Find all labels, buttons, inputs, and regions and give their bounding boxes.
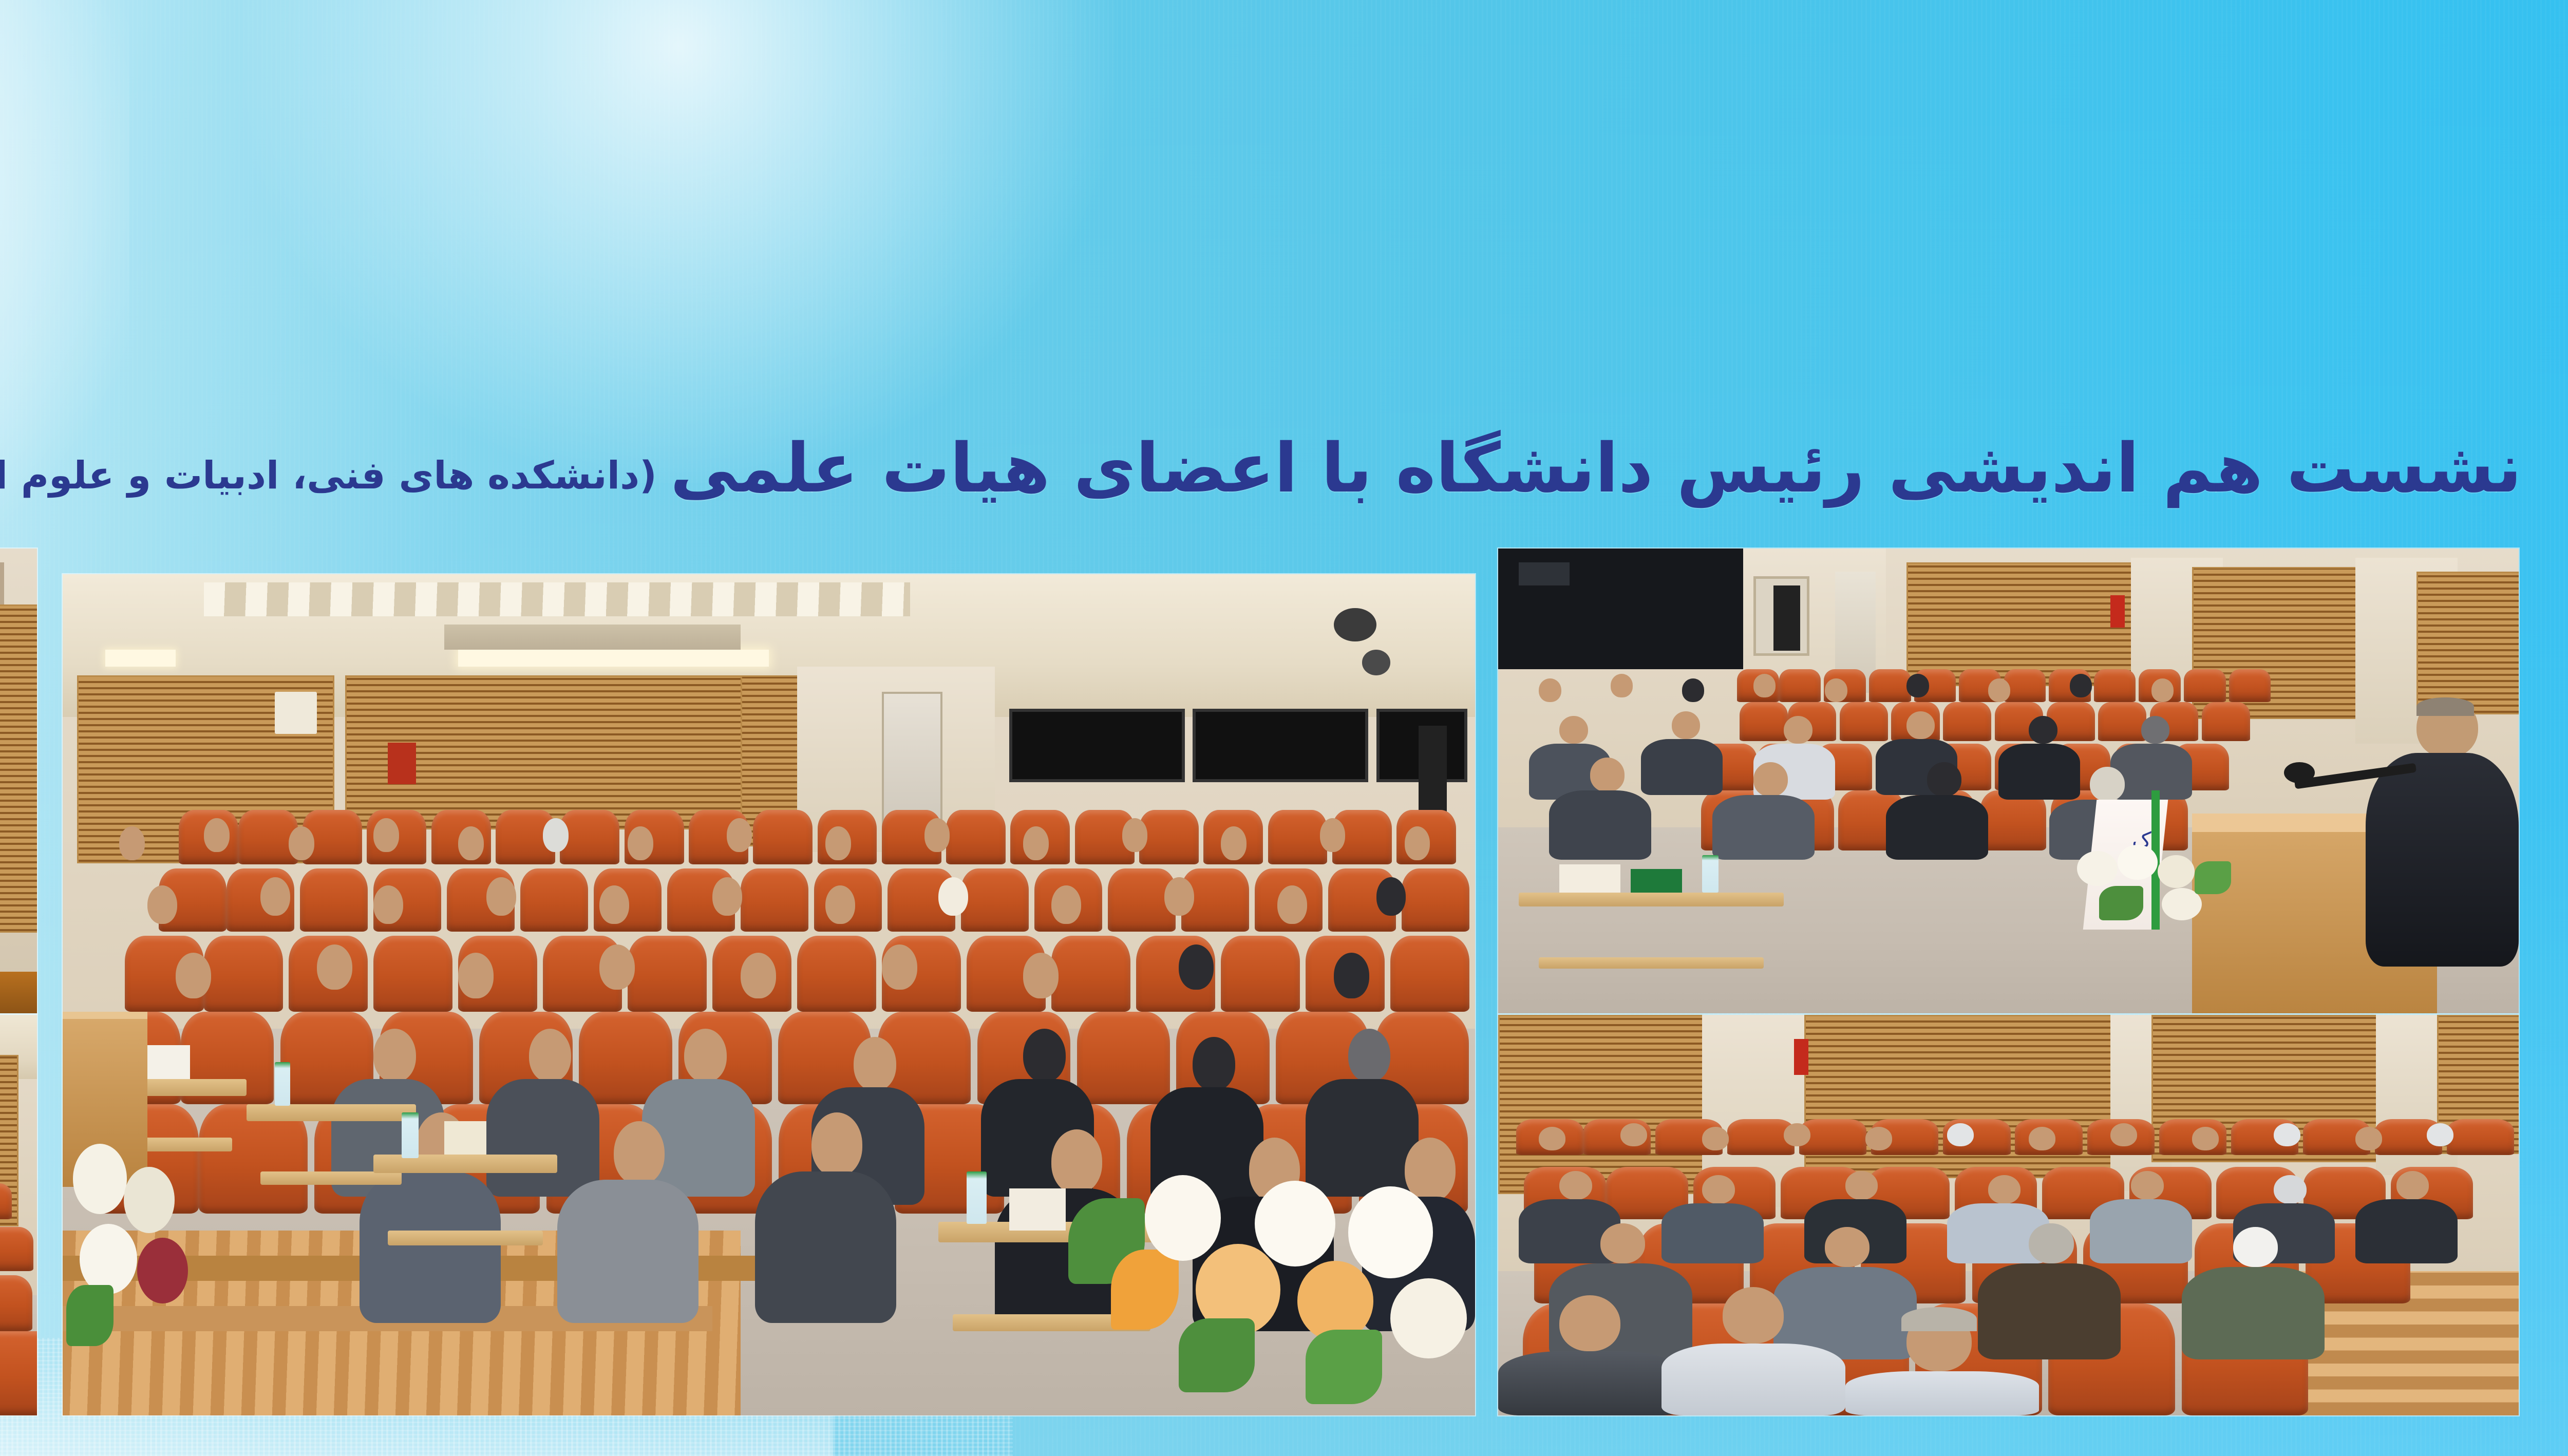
photo-audience-right-lower — [1498, 1015, 2519, 1415]
event-banner: دانشگاه گیلان روابط عمومی دانشگاه گیلان … — [0, 0, 2568, 1456]
banner-title-subtitle: (دانشکده های فنی، ادبیات و علوم انسانی، … — [0, 457, 657, 495]
photo-hall-wide — [63, 574, 1475, 1415]
photo-grid: ١٤ ک ک — [0, 0, 2568, 1456]
photo-audience-right-upper: ک — [1498, 549, 2519, 1013]
banner-title-row: نشست هم اندیشی رئیس دانشگاه با اعضای هیا… — [0, 434, 2522, 502]
photo-speaker-podium: ١٤ ک ک — [0, 549, 37, 1013]
banner-title-main: نشست هم اندیشی رئیس دانشگاه با اعضای هیا… — [670, 434, 2522, 502]
photo-audience-left-rows — [0, 1015, 37, 1415]
